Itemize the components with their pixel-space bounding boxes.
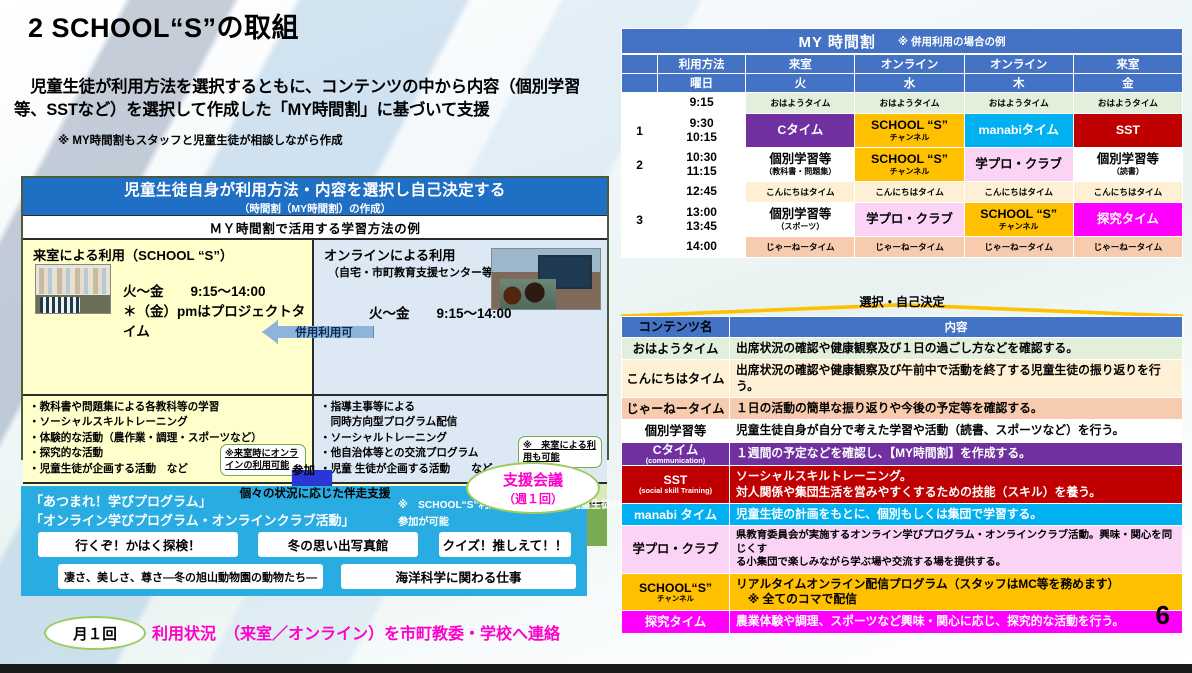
period-number: 1 [622, 114, 658, 148]
table-row: 学プロ・クラブ県教育委員会が実施するオンライン学びプログラム・オンラインクラブ活… [622, 526, 1183, 574]
table-row: こんにちはタイム出席状況の確認や健康観察及び午前中で活動を終了する児童生徒の振り… [622, 360, 1183, 398]
content-name: 個別学習等 [622, 420, 730, 442]
timetable-day-row: 曜日 火 水 木 金 [622, 74, 1183, 93]
timetable-cell[interactable]: じゃーねータイム [964, 237, 1073, 258]
timetable-cell[interactable]: Cタイム [746, 114, 855, 148]
selection-chevron: 選択・自己決定 [621, 288, 1183, 318]
program-item[interactable]: クイズ！推しえて！！ [439, 532, 571, 557]
timetable-title-bar: MY 時間割 ※ 併用利用の場合の例 [621, 28, 1183, 54]
my-timetable: MY 時間割 ※ 併用利用の場合の例 利用方法 来室 オンライン オンライン 来… [621, 28, 1183, 258]
diagram-subtitle: ＭＹ時間割で活用する学習方法の例 [23, 216, 607, 240]
table-row: manabi タイム児童生徒の計画をもとに、個別もしくは集団で学習する。 [622, 503, 1183, 525]
method-cell: 来室 [1073, 55, 1182, 74]
diagram-header-main: 児童生徒自身が利用方法・内容を選択し自己決定する [124, 178, 506, 200]
timetable-cell[interactable]: 探究タイム [1073, 203, 1182, 237]
timetable-cell[interactable]: こんにちはタイム [1073, 182, 1182, 203]
accompanying-support-label: 個々の状況に応じた伴走支援 [240, 485, 391, 501]
content-description: １日の活動の簡単な振り返りや今後の予定等を確認する。 [730, 397, 1183, 419]
lead-paragraph: 児童生徒が利用方法を選択するともに、コンテンツの中から内容（個別学習 等、SST… [14, 76, 614, 123]
day-row-blank [622, 74, 658, 93]
content-description: 児童生徒の計画をもとに、個別もしくは集団で学習する。 [730, 503, 1183, 525]
content-description: リアルタイムオンライン配信プログラム（スタッフはMC等を務めます） ※ 全てのコ… [730, 573, 1183, 611]
content-description: 児童生徒自身が自分で考えた学習や活動（読書、スポーツなど）を行う。 [730, 420, 1183, 442]
table-row: SST(social skill Training)ソーシャルスキルトレーニング… [622, 466, 1183, 504]
support-meeting-callout: 支援会議 （週１回） [466, 462, 600, 514]
page-number: 6 [1156, 600, 1170, 631]
lead-line-1: 児童生徒が利用方法を選択するともに、コンテンツの中から内容（個別学習 [14, 78, 580, 96]
chevron-label: 選択・自己決定 [621, 292, 1183, 310]
onsite-title: 来室による利用（SCHOOL “S”） [23, 240, 312, 264]
timetable-cell[interactable]: こんにちはタイム [746, 182, 855, 203]
support-meeting-title: 支援会議 [503, 469, 563, 490]
content-description: 出席状況の確認や健康観察及び１日の過ごし方などを確認する。 [730, 338, 1183, 360]
content-description: 県教育委員会が実施するオンライン学びプログラム・オンラインクラブ活動。興味・関心… [730, 526, 1183, 574]
onsite-time: 火～金 9:15～14:00 [123, 280, 312, 300]
online-title-main: オンラインによる利用 [324, 248, 455, 263]
table-header-row: コンテンツ名 内容 [622, 317, 1183, 338]
timetable-cell[interactable]: SST [1073, 114, 1182, 148]
period-time: 9:3010:15 [658, 114, 746, 148]
slide-canvas: 2 SCHOOL“S”の取組 児童生徒が利用方法を選択するともに、コンテンツの中… [0, 0, 1192, 673]
day-row-label: 曜日 [658, 74, 746, 93]
content-description: 出席状況の確認や健康観察及び午前中で活動を終了する児童生徒の振り返りを行う。 [730, 360, 1183, 398]
timetable-cell[interactable]: こんにちはタイム [964, 182, 1073, 203]
period-time: 9:15 [658, 93, 746, 114]
period-time: 13:0013:45 [658, 203, 746, 237]
content-name: 学プロ・クラブ [622, 526, 730, 574]
program-item[interactable]: 冬の思い出写真館 [258, 532, 418, 557]
timetable-cell[interactable]: manabiタイム [964, 114, 1073, 148]
method-cell: オンライン [964, 55, 1073, 74]
period-number: 3 [622, 203, 658, 237]
contents-name-header: コンテンツ名 [622, 317, 730, 338]
content-name: こんにちはタイム [622, 360, 730, 398]
list-item: ・教科書や問題集による各教科等の学習 [29, 400, 312, 415]
contents-table: コンテンツ名 内容 おはようタイム出席状況の確認や健康観察及び１日の過ごし方など… [621, 316, 1183, 634]
method-cell: オンライン [855, 55, 964, 74]
content-description: １週間の予定などを確認し、【MY時間割】を作成する。 [730, 442, 1183, 466]
participation-label: 参加 [292, 462, 315, 478]
content-name: manabi タイム [622, 503, 730, 525]
timetable-cell[interactable]: 個別学習等（スポーツ） [746, 203, 855, 237]
timetable-cell[interactable]: 学プロ・クラブ [855, 203, 964, 237]
lead-line-2: 等、SSTなど）を選択して作成した「MY時間割」に基づいて支援 [14, 99, 614, 122]
table-row: 14:00じゃーねータイムじゃーねータイムじゃーねータイムじゃーねータイム [622, 237, 1183, 258]
selection-diagram: 児童生徒自身が利用方法・内容を選択し自己決定する （時間割（MY時間割）の作成）… [21, 176, 609, 460]
timetable-method-row: 利用方法 来室 オンライン オンライン 来室 [622, 55, 1183, 74]
period-number [622, 237, 658, 258]
method-cell: 来室 [746, 55, 855, 74]
lead-note: ※ MY時間割もスタッフと児童生徒が相談しながら作成 [58, 132, 343, 148]
content-name: じゃーねータイム [622, 397, 730, 419]
contents-rows: おはようタイム出席状況の確認や健康観察及び１日の過ごし方などを確認する。こんにち… [622, 338, 1183, 634]
timetable-schedule-rows: 9:15おはようタイムおはようタイムおはようタイムおはようタイム19:3010:… [622, 93, 1183, 258]
content-name: SCHOOL“S”チャンネル [622, 573, 730, 611]
table-row: おはようタイム出席状況の確認や健康観察及び１日の過ごし方などを確認する。 [622, 338, 1183, 360]
program-item[interactable]: 海洋科学に関わる仕事 [341, 564, 576, 589]
slide-bottom-bar [0, 664, 1192, 673]
online-time: 火～金 9:15～14:00 [369, 302, 512, 322]
table-row: 9:15おはようタイムおはようタイムおはようタイムおはようタイム [622, 93, 1183, 114]
table-row: 210:3011:15個別学習等（教科書・問題集）SCHOOL “S”チャンネル… [622, 148, 1183, 182]
content-description: ソーシャルスキルトレーニング。対人関係や集団生活を営みやすくするための技能（スキ… [730, 466, 1183, 504]
timetable-cell[interactable]: こんにちはタイム [855, 182, 964, 203]
content-name: Cタイム(communication) [622, 442, 730, 466]
day-cell: 金 [1073, 74, 1182, 93]
period-number: 2 [622, 148, 658, 182]
day-cell: 火 [746, 74, 855, 93]
content-name: 探究タイム [622, 611, 730, 633]
timetable-cell[interactable]: 個別学習等（読書） [1073, 148, 1182, 182]
onsite-activity-list: ・教科書や問題集による各教科等の学習 ・ソーシャルスキルトレーニング ・体験的な… [23, 396, 314, 482]
timetable-cell[interactable]: 学プロ・クラブ [964, 148, 1073, 182]
content-name: SST(social skill Training) [622, 466, 730, 504]
usage-columns: 来室による利用（SCHOOL “S”） 火～金 9:15～14:00 ＊（金）p… [23, 240, 607, 394]
list-item: ・ソーシャルスキルトレーニング [29, 415, 312, 430]
period-time: 14:00 [658, 237, 746, 258]
classroom-photo [35, 264, 111, 314]
timetable-cell[interactable]: じゃーねータイム [855, 237, 964, 258]
diagram-header-sub: （時間割（MY時間割）の作成） [239, 201, 391, 216]
timetable-title: MY 時間割 [798, 31, 875, 52]
table-row: 12:45こんにちはタイムこんにちはタイムこんにちはタイムこんにちはタイム [622, 182, 1183, 203]
program-item[interactable]: 行くぞ！かはく探検！ [38, 532, 238, 557]
monthly-frequency-badge: 月１回 [44, 616, 146, 650]
table-row: 313:0013:45個別学習等（スポーツ）学プロ・クラブSCHOOL “S”チ… [622, 203, 1183, 237]
timetable-cell[interactable]: おはようタイム [1073, 93, 1182, 114]
day-cell: 木 [964, 74, 1073, 93]
day-cell: 水 [855, 74, 964, 93]
timetable-body: 利用方法 来室 オンライン オンライン 来室 曜日 火 水 木 金 [622, 55, 1183, 93]
table-row: 探究タイム農業体験や調理、スポーツなど興味・関心に応じ、探究的な活動を行う。 [622, 611, 1183, 633]
diagram-header: 児童生徒自身が利用方法・内容を選択し自己決定する （時間割（MY時間割）の作成） [23, 178, 607, 216]
timetable-table: 利用方法 来室 オンライン オンライン 来室 曜日 火 水 木 金 9:15おは… [621, 54, 1183, 258]
table-row: じゃーねータイム１日の活動の簡単な振り返りや今後の予定等を確認する。 [622, 397, 1183, 419]
timetable-cell[interactable]: おはようタイム [964, 93, 1073, 114]
page-title: 2 SCHOOL“S”の取組 [28, 6, 299, 45]
timetable-cell[interactable]: SCHOOL “S”チャンネル [964, 203, 1073, 237]
period-time: 12:45 [658, 182, 746, 203]
program-title-1: 「あつまれ！学びプログラム」 [30, 491, 212, 510]
onsite-usage-column: 来室による利用（SCHOOL “S”） 火～金 9:15～14:00 ＊（金）p… [23, 240, 314, 394]
timetable-cell[interactable]: おはようタイム [855, 93, 964, 114]
program-item[interactable]: 凄さ、美しさ、尊さ—冬の旭山動物園の動物たち— [58, 564, 323, 589]
reporting-statement: 利用状況 （来室／オンライン）を市町教委・学校へ連絡 [152, 620, 560, 644]
table-row: Cタイム(communication)１週間の予定などを確認し、【MY時間割】を… [622, 442, 1183, 466]
timetable-cell[interactable]: 個別学習等（教科書・問題集） [746, 148, 855, 182]
method-row-blank [622, 55, 658, 74]
timetable-cell[interactable]: SCHOOL “S”チャンネル [855, 114, 964, 148]
content-name: おはようタイム [622, 338, 730, 360]
online-usage-column: オンラインによる利用 （自宅・市町教育支援センター等から） 火～金 9:15～1… [314, 240, 607, 394]
table-row: SCHOOL“S”チャンネルリアルタイムオンライン配信プログラム（スタッフはMC… [622, 573, 1183, 611]
list-item: 同時方向型プログラム配信 [320, 415, 607, 430]
timetable-title-note: ※ 併用利用の場合の例 [898, 34, 1006, 49]
method-row-label: 利用方法 [658, 55, 746, 74]
online-class-photo [491, 248, 601, 310]
timetable-cell[interactable]: じゃーねータイム [1073, 237, 1182, 258]
timetable-cell[interactable]: おはようタイム [746, 93, 855, 114]
program-title-2: 「オンライン学びプログラム・オンラインクラブ活動」 [30, 510, 355, 529]
support-meeting-frequency: （週１回） [503, 490, 563, 507]
table-row: 個別学習等児童生徒自身が自分で考えた学習や活動（読書、スポーツなど）を行う。 [622, 420, 1183, 442]
period-number [622, 182, 658, 203]
period-number [622, 93, 658, 114]
period-time: 10:3011:15 [658, 148, 746, 182]
table-row: 19:3010:15CタイムSCHOOL “S”チャンネルmanabiタイムSS… [622, 114, 1183, 148]
contents-header: コンテンツ名 内容 [622, 317, 1183, 338]
program-note-2: 参加が可能 [398, 513, 449, 528]
contents-desc-header: 内容 [730, 317, 1183, 338]
list-item: ・指導主事等による [320, 400, 607, 415]
timetable-cell[interactable]: SCHOOL “S”チャンネル [855, 148, 964, 182]
timetable-cell[interactable]: じゃーねータイム [746, 237, 855, 258]
content-description: 農業体験や調理、スポーツなど興味・関心に応じ、探究的な活動を行う。 [730, 611, 1183, 633]
